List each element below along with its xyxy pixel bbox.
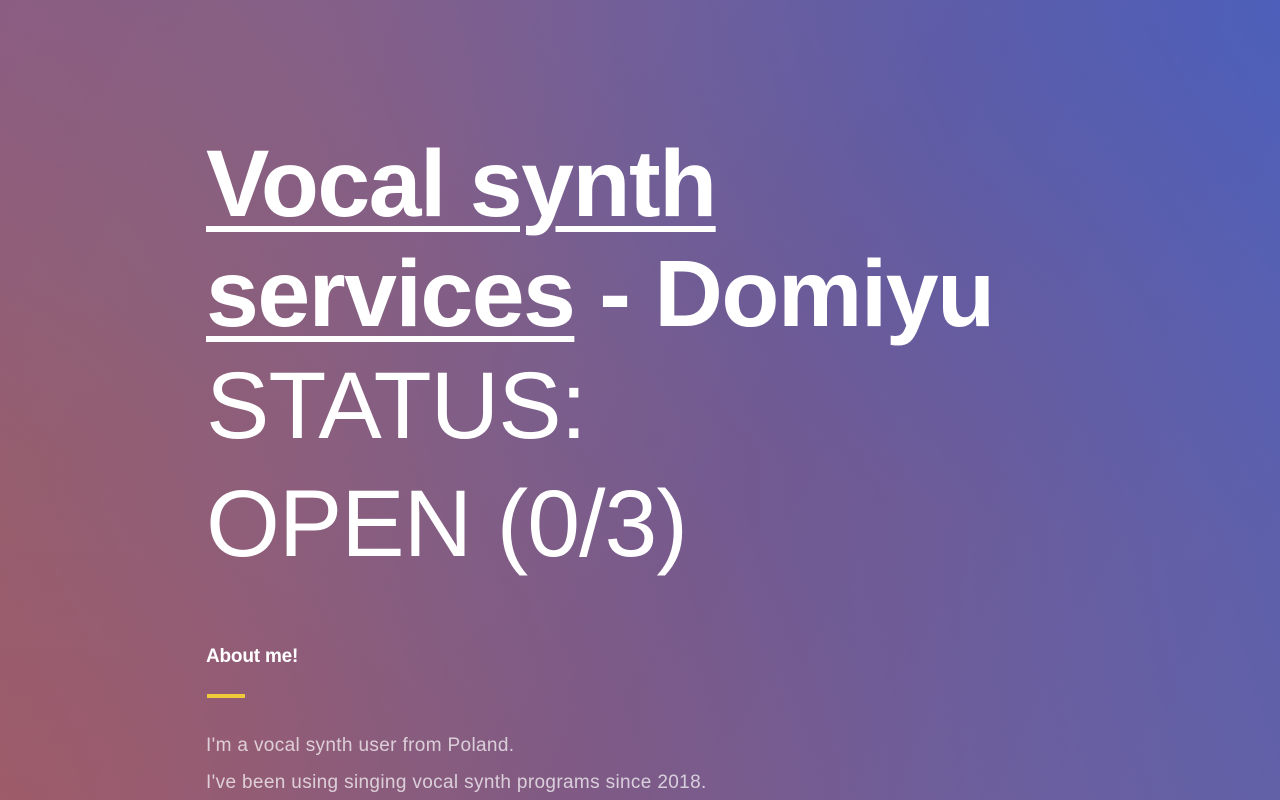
page-content: Vocal synth services - Domiyu STATUS: OP… (206, 0, 1280, 800)
about-line-1: I'm a vocal synth user from Poland. (206, 727, 966, 764)
status-value: OPEN (0/3) (206, 474, 687, 574)
page-title-plain-part: - Domiyu (574, 241, 993, 347)
about-line-2: I've been using singing vocal synth prog… (206, 764, 966, 800)
status-label: STATUS: (206, 356, 586, 456)
about-heading: About me! (206, 644, 298, 670)
about-body: I'm a vocal synth user from Poland. I've… (206, 727, 966, 800)
page-title: Vocal synth services - Domiyu (206, 129, 1086, 349)
about-divider (207, 694, 245, 698)
